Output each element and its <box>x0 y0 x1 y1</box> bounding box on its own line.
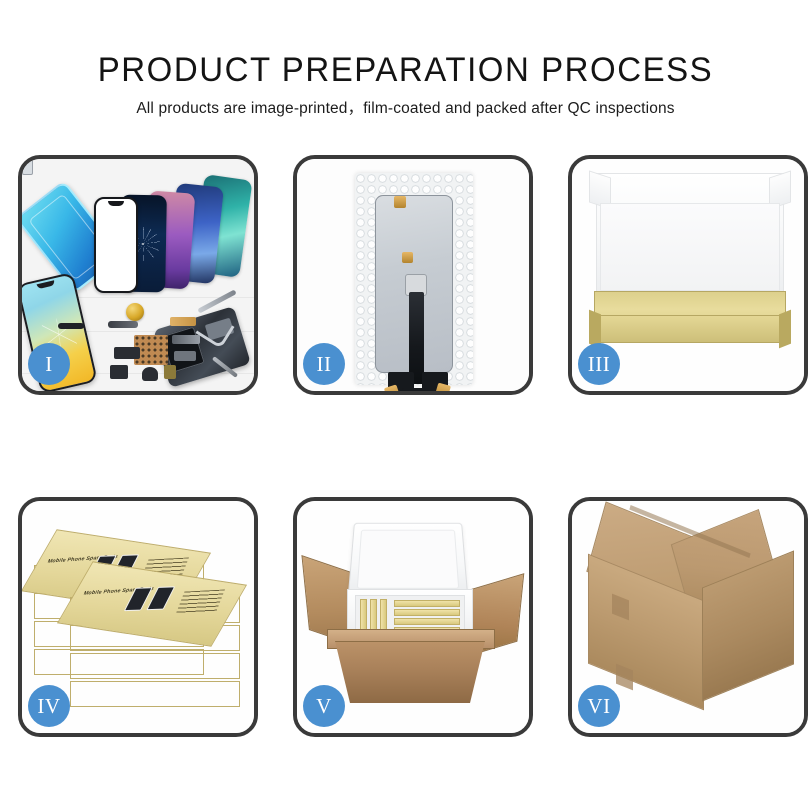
connector-part <box>172 335 200 344</box>
earpiece-mesh-part <box>58 323 84 329</box>
step-badge-6: VI <box>578 685 620 727</box>
process-steps-grid: I II <box>18 155 808 737</box>
box-tray-front <box>594 315 786 343</box>
bubble-wrap-sheet <box>355 173 473 385</box>
gold-flex-part <box>170 317 196 326</box>
box-lid-face <box>600 203 780 291</box>
small-part-a <box>114 347 140 359</box>
small-part-b <box>174 351 196 361</box>
flex-ribbon <box>409 292 424 384</box>
page-subtitle: All products are image-printed，film-coat… <box>0 99 811 119</box>
camera-part <box>164 365 176 379</box>
gold-tab-mid <box>402 252 413 263</box>
phone-glass-white <box>94 197 138 293</box>
coil-part-icon <box>126 303 144 321</box>
phone-screen-fan <box>82 175 254 295</box>
foam-box-lid <box>348 523 469 597</box>
step-panel-6: VI <box>568 497 808 737</box>
step-panel-5: V <box>293 497 533 737</box>
box-spec-lines-2 <box>176 589 225 613</box>
gold-tab-top <box>394 196 406 208</box>
lcd-screen-assembly <box>375 195 453 373</box>
step-panel-3: III <box>568 155 808 395</box>
page-title: PRODUCT PREPARATION PROCESS <box>12 50 799 90</box>
step-panel-1: I <box>18 155 258 395</box>
carton-front <box>335 641 485 703</box>
step-panel-2: II <box>293 155 533 395</box>
step-badge-3: III <box>578 343 620 385</box>
step-badge-4: IV <box>28 685 70 727</box>
step-badge-2: II <box>303 343 345 385</box>
speaker-part <box>142 367 158 381</box>
connector-block-center <box>402 388 436 391</box>
header: PRODUCT PREPARATION PROCESS All products… <box>0 0 811 119</box>
step-badge-5: V <box>303 685 345 727</box>
product-preparation-infographic: PRODUCT PREPARATION PROCESS All products… <box>0 0 811 811</box>
sim-tray-part <box>22 159 33 175</box>
step-panel-4: Mobile Phone Spare Parts Mobile Phone Sp… <box>18 497 258 737</box>
step-badge-1: I <box>28 343 70 385</box>
flex-cable-part <box>108 321 138 328</box>
small-part-c <box>110 365 128 379</box>
